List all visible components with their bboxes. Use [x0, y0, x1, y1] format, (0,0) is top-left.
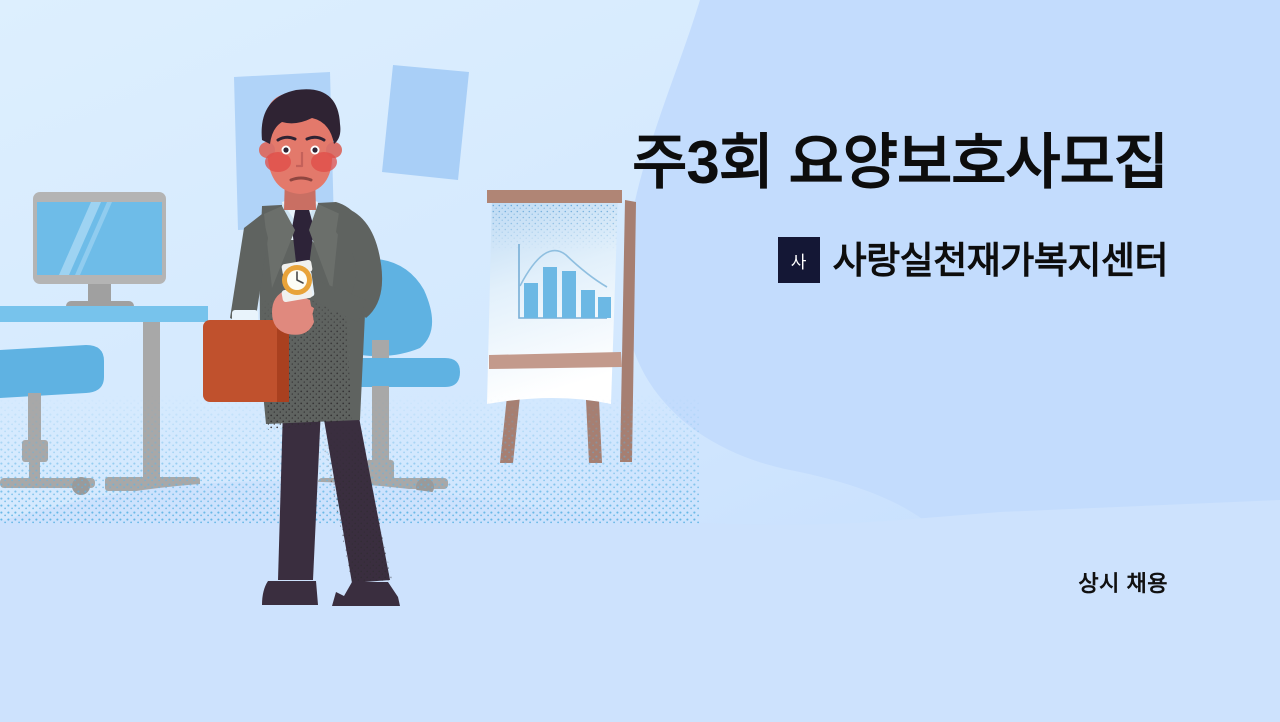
briefcase [203, 320, 289, 402]
office-illustration [0, 0, 1280, 722]
wall-poster-small [382, 65, 469, 180]
left-shoe [262, 581, 318, 605]
wristwatch [281, 259, 313, 302]
recruitment-banner: 주3회 요양보호사모집 사 사랑실천재가복지센터 상시 채용 [0, 0, 1280, 722]
